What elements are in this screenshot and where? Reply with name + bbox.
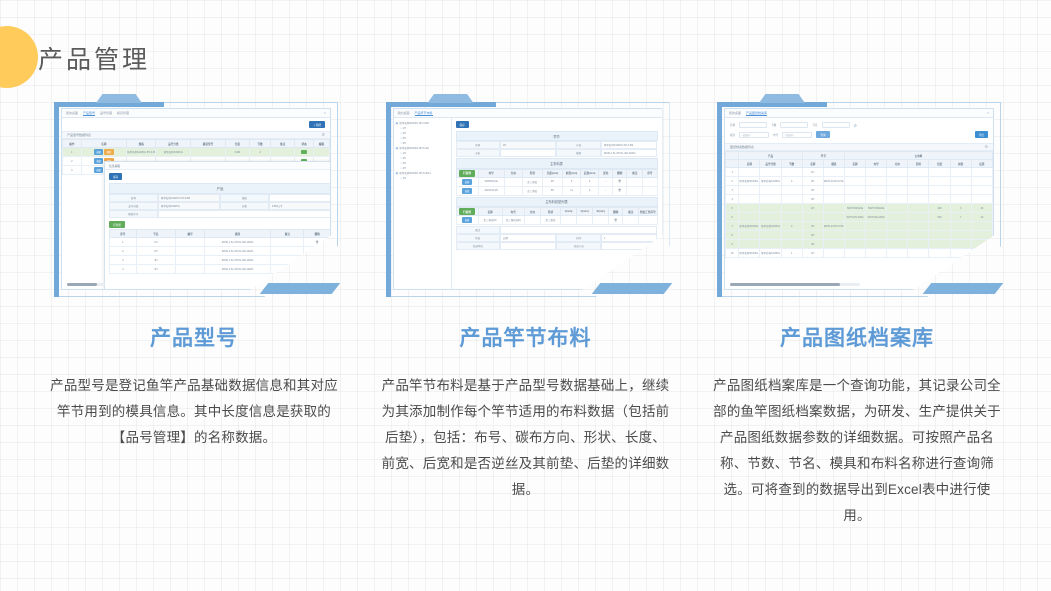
cell-segname: 3H	[802, 231, 823, 240]
form-row: 备注	[456, 226, 658, 234]
mini-tabbar-2: 我的桌面 产品竿节布料	[394, 109, 662, 118]
tree-node[interactable]: ▪1H	[396, 176, 449, 181]
col-m3: K(mm)	[593, 207, 609, 215]
cell-shape[interactable]: 正三角形	[540, 216, 560, 225]
cell-no: 3	[726, 186, 739, 195]
field-value[interactable]: 鱼竿名称S1WKG	[158, 202, 220, 210]
search-button[interactable]: 查询	[816, 131, 829, 138]
cell-model	[191, 148, 226, 157]
save-button[interactable]: 保存	[456, 121, 469, 128]
field-value[interactable]: 启用	[500, 234, 557, 242]
col-add: 行新增	[456, 169, 478, 177]
form-row: 状态 启用 排序 1	[456, 234, 658, 242]
mini-tabbar-3: 我的桌面 产品图纸档案库 ✕	[725, 109, 993, 118]
col-remark: 备注	[271, 230, 304, 238]
card-title-drawing-archive: 产品图纸档案库	[780, 322, 934, 352]
cell-w2	[971, 195, 992, 204]
cell-mold	[823, 195, 844, 204]
col-shape: 形状	[540, 207, 560, 215]
mini-archive-table: 产品 竿节 主布料 名称 品号分类 节数 名称 模具 名称 布号	[725, 151, 993, 258]
field-value[interactable]: ZD30-1.5L-6H-5L-3M-12WG	[601, 149, 658, 157]
delete-pill[interactable]: 删除	[104, 149, 113, 155]
form-row: 记录时间 记录人员	[456, 242, 658, 250]
add-row-button[interactable]: 行新增	[459, 208, 475, 215]
subtable-header-row: 序号 节名 编号 模具 备注 删除	[110, 230, 331, 238]
cell-w2	[971, 186, 992, 195]
cell-op[interactable]: 选择	[456, 216, 478, 225]
frame-notch-3	[759, 94, 805, 103]
cell-product: 鱼竿名称S1WKG 5H-3.6M	[739, 177, 760, 186]
col-attach-no: 附加工件序号	[639, 207, 657, 215]
cell-cat	[760, 195, 781, 204]
col-category: 品号分类	[156, 140, 191, 148]
cell-w1: 3	[563, 177, 581, 186]
cell-length	[929, 231, 950, 240]
cell-mold	[823, 213, 844, 222]
gear-icon[interactable]: ⚙	[321, 133, 325, 137]
cell-shape	[908, 168, 929, 177]
mini-tab-segment-fabric[interactable]: 产品竿节布料	[415, 111, 433, 116]
cell-mold: ZD35-10.6H-3.5K-15KG	[823, 222, 844, 231]
field-label: 模具序号	[109, 210, 158, 218]
cell-code	[176, 238, 205, 247]
cell-dir	[887, 168, 908, 177]
cell-no: 2	[726, 177, 739, 186]
table-row[interactable]: 4 4H	[726, 195, 993, 204]
field-label: 规格	[220, 194, 269, 202]
row-action-pill[interactable]: 选择	[462, 179, 471, 185]
filter-input-segname[interactable]	[822, 122, 850, 128]
col-delete: 删除	[304, 230, 331, 238]
mini-tab-desktop[interactable]: 我的桌面	[398, 111, 410, 115]
screenshot-frame-2: 我的桌面 产品竿节布料 ▣鱼竿名称S1WKG 5H-3.6M ▪1H ▪2H ▪…	[380, 94, 672, 299]
cell-code	[866, 168, 887, 177]
cell-product	[739, 195, 760, 204]
cell-cat	[760, 168, 781, 177]
cell-dir	[887, 213, 908, 222]
cell-remark	[271, 148, 295, 157]
cell-code	[866, 240, 887, 249]
cell-mold[interactable]: ZD30-1.5L-6H-5L-3M-12WG	[205, 238, 271, 247]
close-icon[interactable]: ✕	[986, 111, 989, 115]
cell-shape	[908, 222, 929, 231]
cell-mold[interactable]: ZD30-1.5L-6H-5L-3M-12WG	[205, 247, 271, 256]
cell-shape[interactable]: 正三角形	[522, 186, 542, 195]
screenshot-frame-3: 我的桌面 产品图纸档案库 ✕ 名称 节数 节名 ⟳	[711, 94, 1003, 299]
cell-w2: 10	[971, 213, 992, 222]
row-index: 3	[63, 166, 82, 175]
edit-pill[interactable]: 编辑	[94, 149, 103, 155]
form-row: 节名 模具 ZD30-1.5L-6H-5L-3M-12WG	[456, 149, 658, 157]
field-value[interactable]	[500, 242, 557, 250]
field-label: 记录人员	[556, 242, 600, 250]
cell-sections	[781, 168, 802, 177]
cell-sections	[781, 204, 802, 213]
form-row: 模具序号	[109, 210, 331, 218]
col-mold: 模具	[205, 230, 271, 238]
col-dir: 方向	[504, 169, 522, 177]
table-row[interactable]: 选择 ZW3GVL28 正三角形 5H 11 0 ○ 🗑	[456, 186, 657, 195]
filter-row-1: 名称 节数 节名 ⟳	[730, 122, 988, 128]
table-header-row: 名称 品号分类 节数 名称 模具 名称 布号 方向 形状 长度 前宽 后宽	[726, 160, 993, 168]
card-title-product-model: 产品型号	[150, 322, 238, 352]
col-sections: 节数	[249, 140, 270, 148]
cell-code	[866, 195, 887, 204]
cell-dir	[504, 186, 522, 195]
cell-fabric	[844, 231, 865, 240]
field-value[interactable]: 3.6M以下	[269, 202, 331, 210]
horizontal-scrollbar[interactable]	[730, 283, 860, 286]
cell-edit[interactable]	[313, 148, 329, 157]
cell-delete[interactable]: 🗑	[609, 216, 623, 225]
col-reverse: 逆丝	[599, 169, 613, 177]
filter-select-fabric[interactable]: --请选择--	[782, 132, 812, 138]
col-dir: 方向	[887, 160, 908, 168]
cell-mold[interactable]: ZD30-1.5L-6H-5L-3M-12WG	[205, 265, 271, 274]
section-label: 产品型号数据列表	[67, 133, 91, 137]
cell-no: 1	[110, 238, 137, 247]
edit-pill[interactable]: 编辑	[94, 167, 103, 173]
field-value[interactable]	[158, 210, 331, 218]
cell-length	[929, 222, 950, 231]
cell-dir	[887, 231, 908, 240]
col-segname: 名称	[802, 160, 823, 168]
cell-remark	[271, 247, 304, 256]
cell-name: 鱼竿名称S1WKG 5H-3.6M	[127, 148, 156, 157]
filter-label-name: 名称	[730, 123, 735, 127]
cell-code[interactable]: SW5WGCE	[478, 177, 504, 186]
cards-row: 我的桌面 产品型号 品号管理 模具管理 ✕ ＋新增 产品型号数据列表 ⚙	[0, 94, 1051, 529]
col-w2: 后宽	[971, 160, 992, 168]
cell-sections	[781, 240, 802, 249]
cell-no: 9	[726, 240, 739, 249]
refresh-icon[interactable]: ⟳	[854, 123, 857, 128]
row-action-pill[interactable]: 选择	[462, 188, 471, 194]
save-button[interactable]: 保存	[109, 173, 122, 180]
cell-length: 400	[929, 204, 950, 213]
col-shape: 形状	[908, 160, 929, 168]
field-label: 模具	[556, 149, 600, 157]
file-icon: ▪	[401, 176, 402, 181]
col-remark: 备注	[271, 140, 295, 148]
cell-attach-no	[639, 216, 657, 225]
mini-tab-drawing-archive[interactable]: 产品图纸档案库	[746, 111, 767, 116]
row-index: 1	[63, 148, 82, 157]
cell-w1	[950, 186, 971, 195]
cell-sections: 4	[781, 222, 802, 231]
cell-segname: 3H	[802, 186, 823, 195]
col-length: 长度(mm)	[542, 169, 562, 177]
gear-icon[interactable]: ⚙	[984, 145, 988, 149]
cell-length	[929, 177, 950, 186]
mini-section-bar-1: 产品型号数据列表 ⚙	[62, 131, 330, 139]
col-m2: F(mm)	[577, 207, 593, 215]
filter-label-fabric: 布号	[773, 133, 778, 137]
row-action-pill[interactable]: 选择	[462, 217, 471, 223]
cell-segname: 2H	[136, 247, 176, 256]
group-col-index	[726, 152, 739, 160]
table-row[interactable]: 6 SW7GSV-2WG SW7GSV-2WG 600 7	[726, 213, 993, 222]
frame-bar-1	[260, 283, 341, 294]
cell-cat: 鱼竿名称S1WKG	[156, 148, 191, 157]
close-icon[interactable]: ✕	[323, 111, 326, 115]
cell-segname: 4H	[802, 240, 823, 249]
horizontal-scrollbar[interactable]	[67, 283, 105, 286]
cell-dir	[887, 204, 908, 213]
cell-shape	[908, 204, 929, 213]
field-value[interactable]: 1	[601, 234, 658, 242]
cell-mold	[823, 186, 844, 195]
add-button[interactable]: ＋新增	[309, 121, 325, 128]
col-fabric-name: 名称	[844, 160, 865, 168]
cell-mold	[823, 231, 844, 240]
group-header-row: 产品 竿节 主布料	[726, 152, 993, 160]
cell-code[interactable]: 正三角形布料	[502, 216, 524, 225]
cell-w1	[950, 240, 971, 249]
cell-ops[interactable]: 编辑删除	[81, 148, 126, 157]
card-segment-fabric: 我的桌面 产品竿节布料 ▣鱼竿名称S1WKG 5H-3.6M ▪1H ▪2H ▪…	[380, 94, 672, 529]
status-badge	[301, 150, 307, 154]
col-w1: 前宽	[950, 160, 971, 168]
col-add: 行新增	[456, 207, 478, 215]
mini-pad-table: 行新增 名称 布号 方向 形状 1(mm) F(mm) K(mm) 删除 备	[456, 207, 658, 225]
col-mold: 模具型号	[191, 140, 226, 148]
group-col-product: 产品	[739, 152, 802, 160]
field-label: 品号分类	[109, 202, 158, 210]
cell-code[interactable]: ZW3GVL28	[478, 186, 504, 195]
table-header-row: 行新增 布号 方向 形状 长度(mm) 前宽(mm) 后宽(mm) 逆丝 删除	[456, 169, 657, 177]
cell-remark	[627, 186, 643, 195]
cell-sections	[781, 213, 802, 222]
cell-code	[866, 177, 887, 186]
cell-code: SW7V3WGCE	[866, 204, 887, 213]
cell-no: 7	[726, 222, 739, 231]
col-remark: 备注	[623, 207, 639, 215]
field-label: 名称	[109, 194, 158, 202]
cell-sections: 1	[781, 249, 802, 258]
cell-cat: 鱼竿名称S1WKG	[760, 249, 781, 258]
table-row[interactable]: 选择 正三角形CF 正三角形布料 正三角形 🗑	[456, 216, 657, 225]
cell-sections	[781, 231, 802, 240]
cell-w2: 16	[971, 204, 992, 213]
table-row[interactable]: 9 4H	[726, 240, 993, 249]
col-no: 序号	[643, 169, 657, 177]
cell-segname: 1H	[136, 238, 176, 247]
col-code: 布号	[478, 169, 504, 177]
modal-form-title: 产品	[109, 183, 331, 194]
table-row[interactable]: 选择 SW5WGCE 正三角形 4H 3 0 ○ 🗑	[456, 177, 657, 186]
cell-w1: 3	[950, 204, 971, 213]
cell-mold	[823, 168, 844, 177]
cell-w2: 0	[581, 186, 599, 195]
cell-mold	[823, 204, 844, 213]
col-fabric-code: 布号	[866, 160, 887, 168]
filter-label-sections: 节数	[771, 123, 776, 127]
folder-icon: ▣	[396, 121, 399, 126]
mini-tab-desktop[interactable]: 我的桌面	[729, 111, 741, 115]
cell-dir	[887, 195, 908, 204]
cell-no: 5	[726, 204, 739, 213]
screenshot-frame-1: 我的桌面 产品型号 品号管理 模具管理 ✕ ＋新增 产品型号数据列表 ⚙	[48, 94, 340, 299]
cell-shape	[908, 177, 929, 186]
cell-segname: 4H	[136, 265, 176, 274]
filter-select-mold[interactable]: --请选择--	[739, 132, 769, 138]
cell-product	[739, 240, 760, 249]
col-delete: 删除	[613, 169, 627, 177]
col-status: 状态	[295, 140, 314, 148]
cell-shape	[908, 231, 929, 240]
frame-notch-2	[428, 94, 474, 103]
form-row: 名称 1H 产品 鱼竿名称S1WKG 5H-3.6M	[456, 141, 658, 149]
cell-mold	[823, 240, 844, 249]
mini-fabric-table: 行新增 布号 方向 形状 长度(mm) 前宽(mm) 后宽(mm) 逆丝 删除	[456, 169, 658, 196]
field-value[interactable]: 鱼竿名称S1WKG 5H-3.6M	[601, 141, 658, 149]
band-segment: 竿节	[456, 131, 658, 141]
cell-dir	[504, 177, 522, 186]
table-row[interactable]: 8 3H	[726, 231, 993, 240]
cell-status	[295, 148, 314, 157]
cell-delete[interactable]: 🗑	[613, 177, 627, 186]
group-col-fabric: 主布料	[844, 152, 992, 160]
cell-no: 2	[110, 247, 137, 256]
col-mold: 模具	[823, 160, 844, 168]
add-row-button[interactable]: 行新增	[459, 170, 475, 177]
mini-tabbar-1: 我的桌面 产品型号 品号管理 模具管理 ✕	[62, 109, 330, 118]
cell-w2	[971, 177, 992, 186]
cell-name[interactable]: 正三角形CF	[478, 216, 502, 225]
cell-sections: 4	[249, 148, 270, 157]
mini-tab-desktop[interactable]: 我的桌面	[66, 111, 78, 115]
table-row[interactable]: 1 1H ZD30-1.5L-6H-5L-3M-12WG 🗑	[110, 238, 331, 247]
table-row[interactable]: 5 1H SW7V3WGCE SW7V3WGCE 400 3	[726, 204, 993, 213]
mini-tab-mold-mgmt[interactable]: 模具管理	[117, 111, 129, 115]
cell-reverse[interactable]: ○	[599, 186, 613, 195]
col-name: 名称	[81, 140, 126, 148]
decorative-accent-circle	[0, 26, 38, 88]
band-fabric: 主布料表	[456, 158, 658, 168]
cell-product: 鱼竿名称S1WKG 5H-5.4M-1	[739, 249, 760, 258]
cell-m1	[561, 216, 577, 225]
cell-op[interactable]: 选择	[456, 186, 478, 195]
mini-tab-product-model[interactable]: 产品型号	[83, 111, 95, 116]
cell-code	[176, 247, 205, 256]
cell-m2	[577, 216, 593, 225]
cell-fabric	[844, 222, 865, 231]
mini-toolbar-1: ＋新增	[62, 118, 330, 131]
table-row[interactable]: 7 鱼竿名称S1WKG 5H-5.4M 鱼竿名称S1WKG 4 2H ZD35-…	[726, 222, 993, 231]
row-index: 2	[63, 157, 82, 166]
mini-tab-item-mgmt[interactable]: 品号管理	[100, 111, 112, 115]
cell-dir	[887, 186, 908, 195]
cell-w1: 7	[950, 213, 971, 222]
filter-input-name[interactable]	[739, 122, 767, 128]
cell-w1	[950, 222, 971, 231]
cell-shape	[908, 195, 929, 204]
cell-sections	[781, 195, 802, 204]
col-delete: 删除	[609, 207, 623, 215]
col-sections: 节数	[781, 160, 802, 168]
col-edit: 编辑	[313, 140, 329, 148]
cell-w2	[971, 168, 992, 177]
cell-cat	[760, 240, 781, 249]
field-label: 排序	[556, 234, 600, 242]
cell-reverse[interactable]: ○	[599, 177, 613, 186]
col-product-name: 名称	[739, 160, 760, 168]
cell-no: 1	[726, 168, 739, 177]
edit-pill[interactable]: 编辑	[94, 158, 103, 164]
cell-m3	[593, 216, 609, 225]
cell-w2: 0	[581, 177, 599, 186]
cell-w1	[950, 168, 971, 177]
cell-w2	[971, 222, 992, 231]
field-value[interactable]	[500, 149, 557, 157]
filter-label-segname: 节名	[812, 123, 817, 127]
cell-fabric	[844, 195, 865, 204]
cell-no: 8	[726, 231, 739, 240]
cell-segname: 3H	[136, 256, 176, 265]
cell-segname	[802, 213, 823, 222]
section-label: 图纸档案数据列表	[730, 145, 754, 149]
cell-no	[643, 177, 657, 186]
band-pad: 主布料前垫列表	[456, 197, 658, 207]
modal-title: 信息编辑	[109, 164, 120, 168]
col-w1: 前宽(mm)	[563, 169, 581, 177]
col-spec: 规格	[127, 140, 156, 148]
table-row[interactable]: 10 鱼竿名称S1WKG 5H-5.4M-1 鱼竿名称S1WKG 1 1H	[726, 249, 993, 258]
field-label: 备注	[456, 226, 500, 234]
cell-no: 10	[726, 249, 739, 258]
table-header-row: 操作 名称 规格 品号分类 模具型号 长度 节数 备注 状态 编辑	[63, 140, 330, 148]
cell-shape[interactable]: 正三角形	[522, 177, 542, 186]
cell-segname: 4H	[802, 195, 823, 204]
cell-code	[176, 256, 205, 265]
cell-code	[866, 231, 887, 240]
cell-mold: ZD35-10.6H-3.5K-15KG	[823, 177, 844, 186]
cell-length	[929, 249, 950, 258]
table-row[interactable]: 2 2H ZD30-1.5L-6H-5L-3M-12WG 🗑	[110, 247, 331, 256]
field-label: 名称	[456, 141, 500, 149]
table-row[interactable]: 1 编辑删除 鱼竿名称S1WKG 5H-3.6M 鱼竿名称S1WKG 3.6M …	[63, 148, 330, 157]
cell-op[interactable]: 选择	[456, 177, 478, 186]
table-row[interactable]: 3 3H	[726, 186, 993, 195]
cell-remark	[271, 238, 304, 247]
cell-delete[interactable]: 🗑	[613, 186, 627, 195]
field-value[interactable]: 鱼竿名称S1WKG 5H-3.6M	[158, 194, 220, 202]
cell-shape	[908, 240, 929, 249]
table-header-row: 行新增 名称 布号 方向 形状 1(mm) F(mm) K(mm) 删除 备	[456, 207, 657, 215]
cell-sections: 4	[781, 177, 802, 186]
cell-cat	[760, 186, 781, 195]
col-length: 长度	[929, 160, 950, 168]
cell-shape	[908, 249, 929, 258]
mini-filter-bar: 名称 节数 节名 ⟳ 模具 --请选择-- 布号 --请选择-	[725, 118, 993, 143]
export-button[interactable]: 导出	[975, 131, 988, 138]
field-label: 产品	[556, 141, 600, 149]
table-row[interactable]: 1 1H	[726, 168, 993, 177]
cell-mold[interactable]: ZD30-1.5L-6H-5L-3M-12WG	[205, 256, 271, 265]
add-row-button[interactable]: 行新增	[109, 221, 125, 228]
field-value[interactable]: 1H	[500, 141, 557, 149]
mini-tree-panel[interactable]: ▣鱼竿名称S1WKG 5H-3.6M ▪1H ▪2H ▪3H ▪4H ▣鱼竿名称…	[394, 118, 452, 289]
field-value[interactable]	[500, 226, 658, 234]
cell-product: 鱼竿名称S1WKG 5H-5.4M	[739, 222, 760, 231]
cell-sections	[781, 186, 802, 195]
cell-w2	[971, 231, 992, 240]
table-row[interactable]: 2 鱼竿名称S1WKG 5H-3.6M 鱼竿名称S1WKG 4 2H ZD35-…	[726, 177, 993, 186]
cell-code	[866, 186, 887, 195]
field-value[interactable]	[269, 194, 331, 202]
filter-input-sections[interactable]	[780, 122, 808, 128]
